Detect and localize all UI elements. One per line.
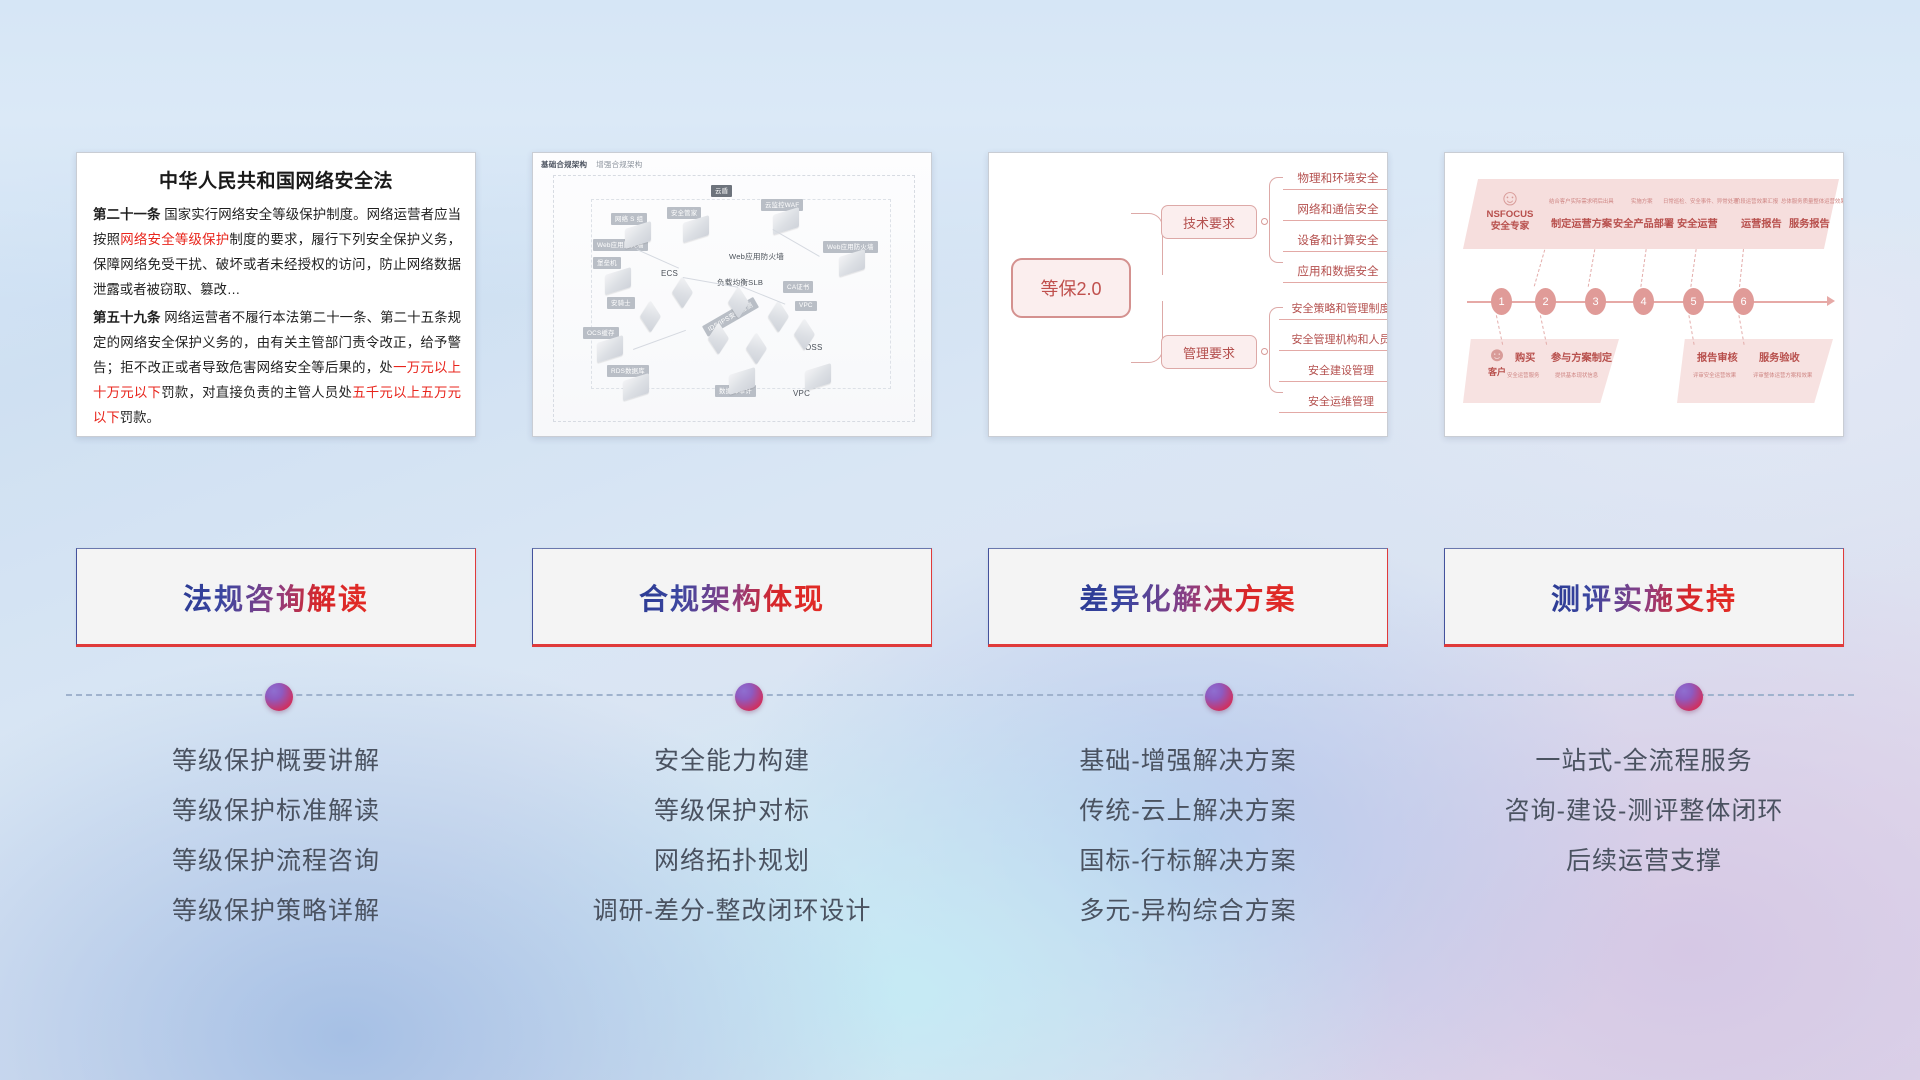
architecture-node-bastion: 堡垒机 [593,257,621,269]
card-cloud-architecture[interactable]: 基础合规架构增强合规架构 云盾 网络 S 组 安全管家 云监控WAF Web应用… [532,152,932,437]
timeline-node-1[interactable]: 1 [1491,288,1512,315]
headline-row: 法规咨询解读 合规架构体现 差异化解决方案 测评实施支持 [76,548,1844,645]
mindmap-branch-technical: 技术要求 [1161,205,1257,239]
detail-item-1-1: 等级保护概要讲解 [76,736,476,786]
law-article-59-seg-4: 罚款。 [120,410,160,425]
architecture-tab-active[interactable]: 基础合规架构 [541,160,587,169]
law-body: 第二十一条 国家实行网络安全等级保护制度。网络运营者应当按照网络安全等级保护制度… [77,193,475,430]
timeline-upper-sub-2: 实施方案 [1631,197,1653,205]
detail-column-1: 等级保护概要讲解 等级保护标准解读 等级保护流程咨询 等级保护策略详解 [76,736,476,936]
mindmap-leaf-operation: 安全运维管理 [1279,393,1388,413]
headline-label-2: 合规架构体现 [639,576,825,618]
architecture-node-ecs: ECS [661,269,678,278]
mindmap-dot-management [1261,348,1268,355]
mindmap-bracket-technical [1269,177,1283,263]
timeline-upper-title-4: 运营报告 [1741,215,1782,230]
detail-item-3-1: 基础-增强解决方案 [988,736,1388,786]
timeline-dash-3 [1640,249,1646,287]
card-mindmap-dengbao[interactable]: 等保2.0 技术要求 管理要求 物理和环境安全 网络和通信安全 设备和计算安全 … [988,152,1388,437]
headline-box-regulation-consulting[interactable]: 法规咨询解读 [76,548,476,645]
mindmap-root-node: 等保2.0 [1011,258,1131,318]
timeline-lower-title-3: 报告审核 [1697,349,1738,364]
detail-item-4-2: 咨询-建设-测评整体闭环 [1444,786,1844,836]
detail-column-3: 基础-增强解决方案 传统-云上解决方案 国标-行标解决方案 多元-异构综合方案 [988,736,1388,936]
timeline-dash-2 [1588,249,1596,287]
person-star-icon: ☺ [1479,187,1541,209]
timeline-dash-5 [1739,249,1744,287]
timeline-marker-2[interactable] [735,683,763,711]
architecture-node-gaofangip: VPC [795,301,817,311]
mindmap-leaf-device: 设备和计算安全 [1283,232,1388,252]
headline-label-4: 测评实施支持 [1551,576,1737,618]
detail-item-2-1: 安全能力构建 [532,736,932,786]
mindmap-leaf-build: 安全建设管理 [1279,362,1388,382]
mindmap-dot-technical [1261,218,1268,225]
detail-column-2: 安全能力构建 等级保护对标 网络拓扑规划 调研-差分-整改闭环设计 [532,736,932,936]
timeline-upper-title-5: 服务报告 [1789,215,1830,230]
timeline-upper-title-1: 制定运营方案 [1551,215,1612,230]
timeline-upper-title-2: 安全产品部署 [1613,215,1674,230]
process-timeline [66,694,1854,696]
detail-item-2-3: 网络拓扑规划 [532,836,932,886]
detail-columns: 等级保护概要讲解 等级保护标准解读 等级保护流程咨询 等级保护策略详解 安全能力… [76,736,1844,936]
preview-cards-row: 中华人民共和国网络安全法 第二十一条 国家实行网络安全等级保护制度。网络运营者应… [76,152,1844,442]
headline-label-3: 差异化解决方案 [1079,576,1296,618]
timeline-axis-arrow-icon [1827,296,1835,306]
timeline-provider-role: 安全专家 [1491,221,1529,232]
mindmap-leaf-application: 应用和数据安全 [1283,263,1388,283]
detail-item-2-4: 调研-差分-整改闭环设计 [532,886,932,936]
headline-box-compliance-architecture[interactable]: 合规架构体现 [532,548,932,645]
architecture-node-cloudshield: 云盾 [711,185,732,197]
timeline-upper-sub-4: 阶段运营效果汇报 [1735,197,1778,205]
mindmap-root-curve-up [1131,213,1163,275]
timeline-dash-1 [1534,250,1545,287]
law-article-59-seg-2: 罚款，对直接负责的主管人员处 [161,385,352,400]
detail-item-2-2: 等级保护对标 [532,786,932,836]
law-article-59: 第五十九条 网络运营者不履行本法第二十一条、第二十五条规定的网络安全保护义务的，… [93,305,461,430]
detail-item-1-4: 等级保护策略详解 [76,886,476,936]
timeline-upper-sub-1: 结合客户实际需求明后出具 [1549,197,1614,205]
timeline-node-6[interactable]: 6 [1733,288,1754,315]
law-article-21-number: 第二十一条 [93,207,160,222]
timeline-upper-sub-5: 总体服务质量整体运营效果 [1781,197,1844,205]
timeline-marker-1[interactable] [265,683,293,711]
architecture-node-security-butler: 安全管家 [667,207,701,219]
detail-item-4-1: 一站式-全流程服务 [1444,736,1844,786]
card-cybersecurity-law[interactable]: 中华人民共和国网络安全法 第二十一条 国家实行网络安全等级保护制度。网络运营者应… [76,152,476,437]
detail-item-3-4: 多元-异构综合方案 [988,886,1388,936]
detail-column-4: 一站式-全流程服务 咨询-建设-测评整体闭环 后续运营支撑 [1444,736,1844,936]
timeline-lower-sub-4: 评审整体运营方案和效果 [1753,371,1812,379]
timeline-node-4[interactable]: 4 [1633,288,1654,315]
mindmap-leaf-physical: 物理和环境安全 [1283,170,1388,190]
law-article-21: 第二十一条 国家实行网络安全等级保护制度。网络运营者应当按照网络安全等级保护制度… [93,202,461,302]
mindmap-root-curve-down [1131,301,1163,363]
timeline-upper-sub-3: 日常巡检、安全事件、异常处理 [1663,197,1738,205]
detail-item-1-3: 等级保护流程咨询 [76,836,476,886]
timeline-lower-title-2: 参与方案制定 [1551,349,1612,364]
architecture-tab-inactive[interactable]: 增强合规架构 [596,160,642,169]
law-article-59-number: 第五十九条 [93,310,160,325]
architecture-diagram: 基础合规架构增强合规架构 云盾 网络 S 组 安全管家 云监控WAF Web应用… [533,153,931,436]
headline-label-1: 法规咨询解读 [183,576,369,618]
timeline-lower-sub-3: 评审安全运营效果 [1693,371,1736,379]
law-article-21-seg-1: 网络安全等级保护 [120,232,229,247]
detail-item-3-3: 国标-行标解决方案 [988,836,1388,886]
architecture-node-web-waf: Web应用防火墙 [729,251,784,262]
law-title: 中华人民共和国网络安全法 [77,166,475,193]
timeline-provider-label: ☺ NSFOCUS 安全专家 [1479,187,1541,233]
architecture-tabs: 基础合规架构增强合规架构 [541,159,642,170]
timeline-node-5[interactable]: 5 [1683,288,1704,315]
architecture-node-cloud-waf: Web应用防火墙 [823,241,878,253]
timeline-node-3[interactable]: 3 [1585,288,1606,315]
timeline-marker-3[interactable] [1205,683,1233,711]
timeline-customer-name: 客户 [1488,367,1506,377]
timeline-node-2[interactable]: 2 [1535,288,1556,315]
mindmap-branch-management: 管理要求 [1161,335,1257,369]
mindmap-leaf-org: 安全管理机构和人员 [1279,331,1388,351]
detail-item-4-3: 后续运营支撑 [1444,836,1844,886]
timeline-lower-sub-2: 提供基本现状信息 [1555,371,1598,379]
architecture-node-vpc: VPC [793,389,810,398]
timeline-lower-title-1: 购买 [1515,349,1535,364]
detail-item-3-2: 传统-云上解决方案 [988,786,1388,836]
timeline-marker-4[interactable] [1675,683,1703,711]
detail-item-1-2: 等级保护标准解读 [76,786,476,836]
architecture-node-ca: CA证书 [783,281,813,293]
timeline-dash-4 [1690,249,1696,287]
service-timeline-diagram: ☺ NSFOCUS 安全专家 ☻ 客户 结合客户实际需求明后出具 制定运营方案 … [1445,153,1843,436]
headline-box-differentiated-solution[interactable]: 差异化解决方案 [988,548,1388,645]
person-check-icon: ☻ [1475,345,1519,366]
timeline-lower-sub-1: 安全运营服务 [1507,371,1539,379]
architecture-node-anqishi: 安骑士 [607,297,635,309]
mindmap-leaf-network: 网络和通信安全 [1283,201,1388,221]
timeline-upper-title-3: 安全运营 [1677,215,1718,230]
card-service-timeline[interactable]: ☺ NSFOCUS 安全专家 ☻ 客户 结合客户实际需求明后出具 制定运营方案 … [1444,152,1844,437]
mindmap-diagram: 等保2.0 技术要求 管理要求 物理和环境安全 网络和通信安全 设备和计算安全 … [989,153,1387,436]
timeline-provider-name: NSFOCUS [1487,209,1534,220]
timeline-lower-title-4: 服务验收 [1759,349,1800,364]
mindmap-leaf-policy: 安全策略和管理制度 [1279,300,1388,320]
headline-box-assessment-support[interactable]: 测评实施支持 [1444,548,1844,645]
slide-canvas: 中华人民共和国网络安全法 第二十一条 国家实行网络安全等级保护制度。网络运营者应… [0,0,1920,1080]
